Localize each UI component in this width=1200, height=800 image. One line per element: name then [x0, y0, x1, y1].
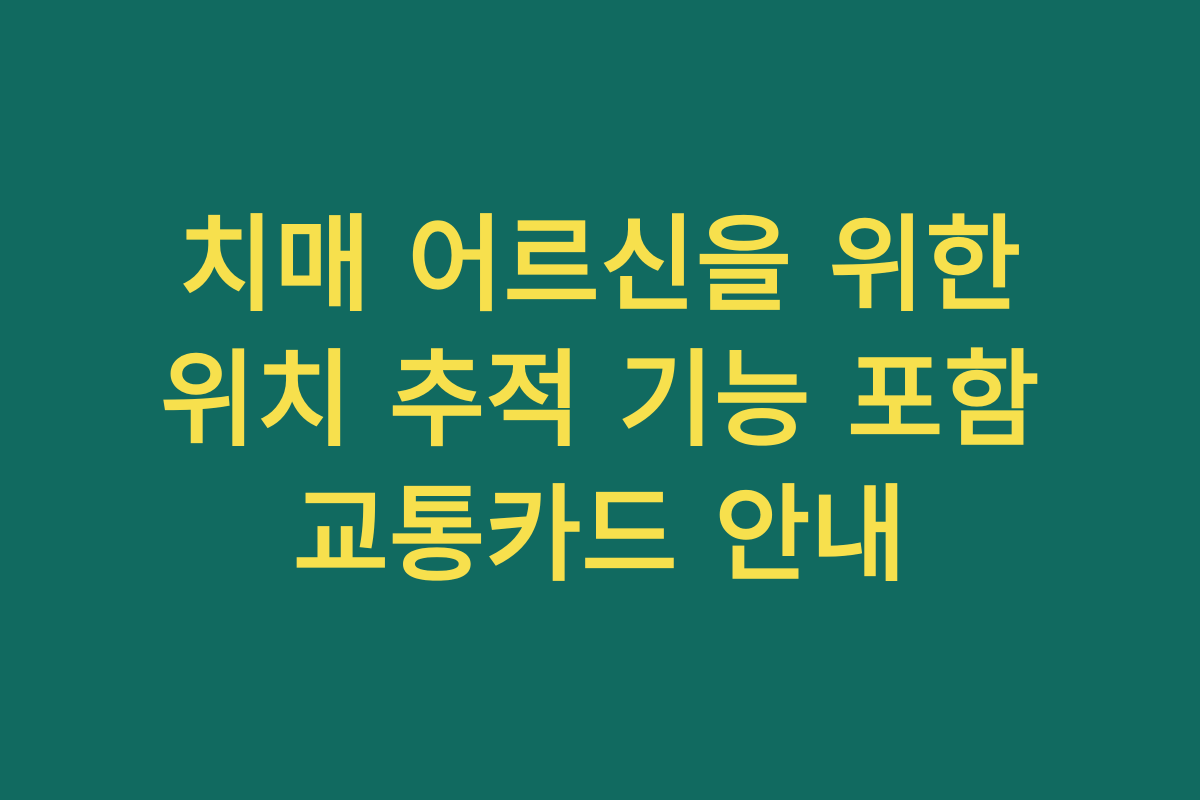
title-banner: 치매 어르신을 위한 위치 추적 기능 포함 교통카드 안내	[0, 0, 1200, 800]
title-block: 치매 어르신을 위한 위치 추적 기능 포함 교통카드 안내	[80, 198, 1120, 603]
page-title: 치매 어르신을 위한 위치 추적 기능 포함 교통카드 안내	[90, 198, 1110, 603]
